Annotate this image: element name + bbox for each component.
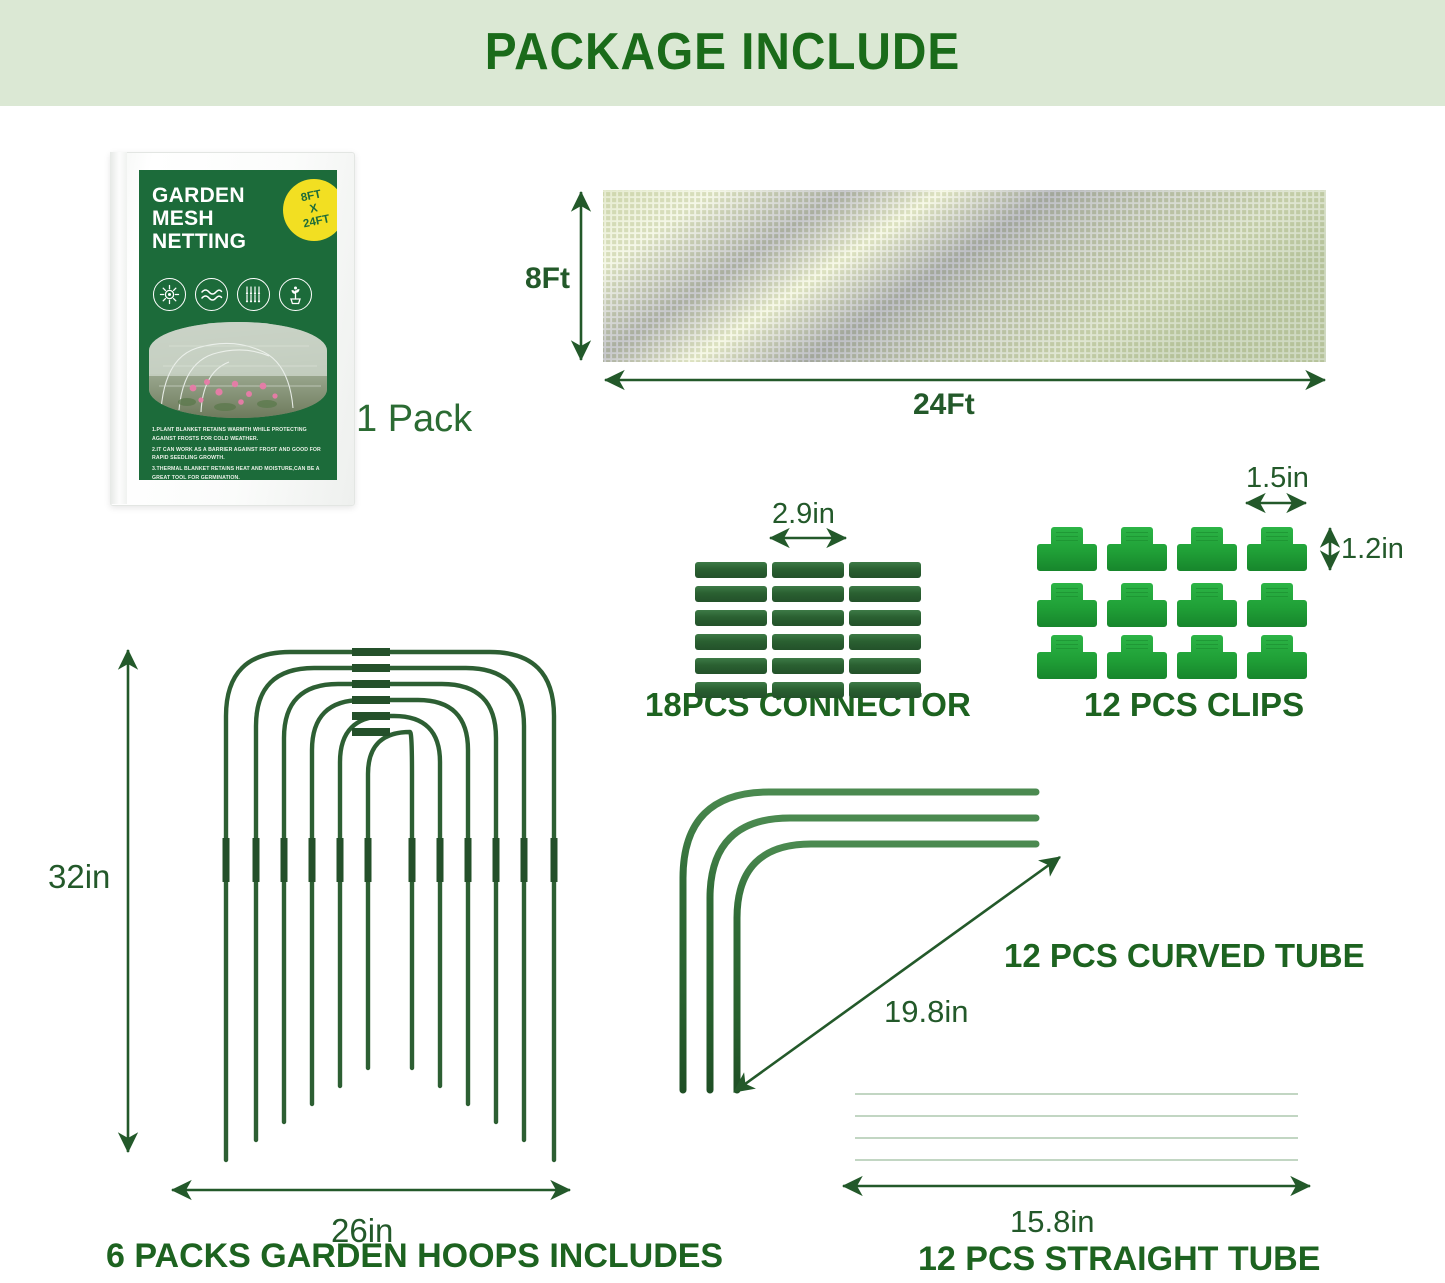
straight-tubes-group <box>845 1097 1308 1163</box>
curved-tubes-group <box>683 792 1036 1090</box>
bag-product-photo <box>149 322 327 418</box>
clips-caption: 12 PCS CLIPS <box>1084 686 1304 724</box>
clips-group <box>1037 503 1330 679</box>
clip-shapes <box>1037 527 1307 679</box>
straight-tube-dimension-label: 15.8in <box>1010 1204 1094 1240</box>
uv-protection-icon <box>153 278 186 311</box>
fineprint-line-2: 2.IT CAN WORK AS A BARRIER AGAINST FROST… <box>152 446 328 463</box>
hoops-caption: 6 PACKS GARDEN HOOPS INCLUDES <box>106 1237 723 1276</box>
feature-icon-row <box>153 278 312 311</box>
bag-fine-print: 1.PLANT BLANKET RETAINS WARMTH WHILE PRO… <box>152 426 328 480</box>
connector-dimension-label: 2.9in <box>772 498 835 531</box>
brand-line-2: MESH <box>152 207 292 230</box>
package-include-infographic: PACKAGE INCLUDE GARDEN MESH NETTING 8FT … <box>0 0 1445 1283</box>
bag-label: GARDEN MESH NETTING 8FT X 24FT <box>139 170 337 480</box>
clips-width-label: 1.5in <box>1246 462 1309 495</box>
wave-breathable-icon <box>195 278 228 311</box>
hoop-connector-bands <box>352 652 390 732</box>
mesh-netting-sheet <box>603 190 1326 362</box>
package-bag: GARDEN MESH NETTING 8FT X 24FT <box>110 152 353 504</box>
connector-caption: 18PCS CONNECTOR <box>645 686 971 724</box>
brand-line-1: GARDEN <box>152 184 292 207</box>
brand-line-3: NETTING <box>152 230 292 253</box>
page-title: PACKAGE INCLUDE <box>58 22 1387 82</box>
fineprint-line-1: 1.PLANT BLANKET RETAINS WARMTH WHILE PRO… <box>152 426 328 443</box>
rain-water-icon <box>237 278 270 311</box>
straight-tube-caption: 12 PCS STRAIGHT TUBE <box>918 1240 1320 1279</box>
connector-group <box>695 538 921 698</box>
curved-tube-dimension-label: 19.8in <box>884 994 968 1030</box>
pack-quantity-label: 1 Pack <box>356 398 472 441</box>
straight-tube-highlights <box>855 1094 1298 1160</box>
fineprint-line-3: 3.THERMAL BLANKET RETAINS HEAT AND MOIST… <box>152 465 328 480</box>
hoops-height-label: 32in <box>48 858 110 896</box>
connector-blocks <box>695 562 921 698</box>
mesh-width-label: 24Ft <box>913 388 975 422</box>
mesh-height-label: 8Ft <box>525 262 570 296</box>
garden-hoops-group <box>226 652 554 1160</box>
curved-tube-caption: 12 PCS CURVED TUBE <box>1004 937 1365 975</box>
hoop-leg-bands <box>226 838 554 882</box>
clips-height-label: 1.2in <box>1341 533 1404 566</box>
bag-spine <box>110 152 127 504</box>
plant-growth-icon <box>279 278 312 311</box>
bag-brand-name: GARDEN MESH NETTING <box>152 184 292 253</box>
